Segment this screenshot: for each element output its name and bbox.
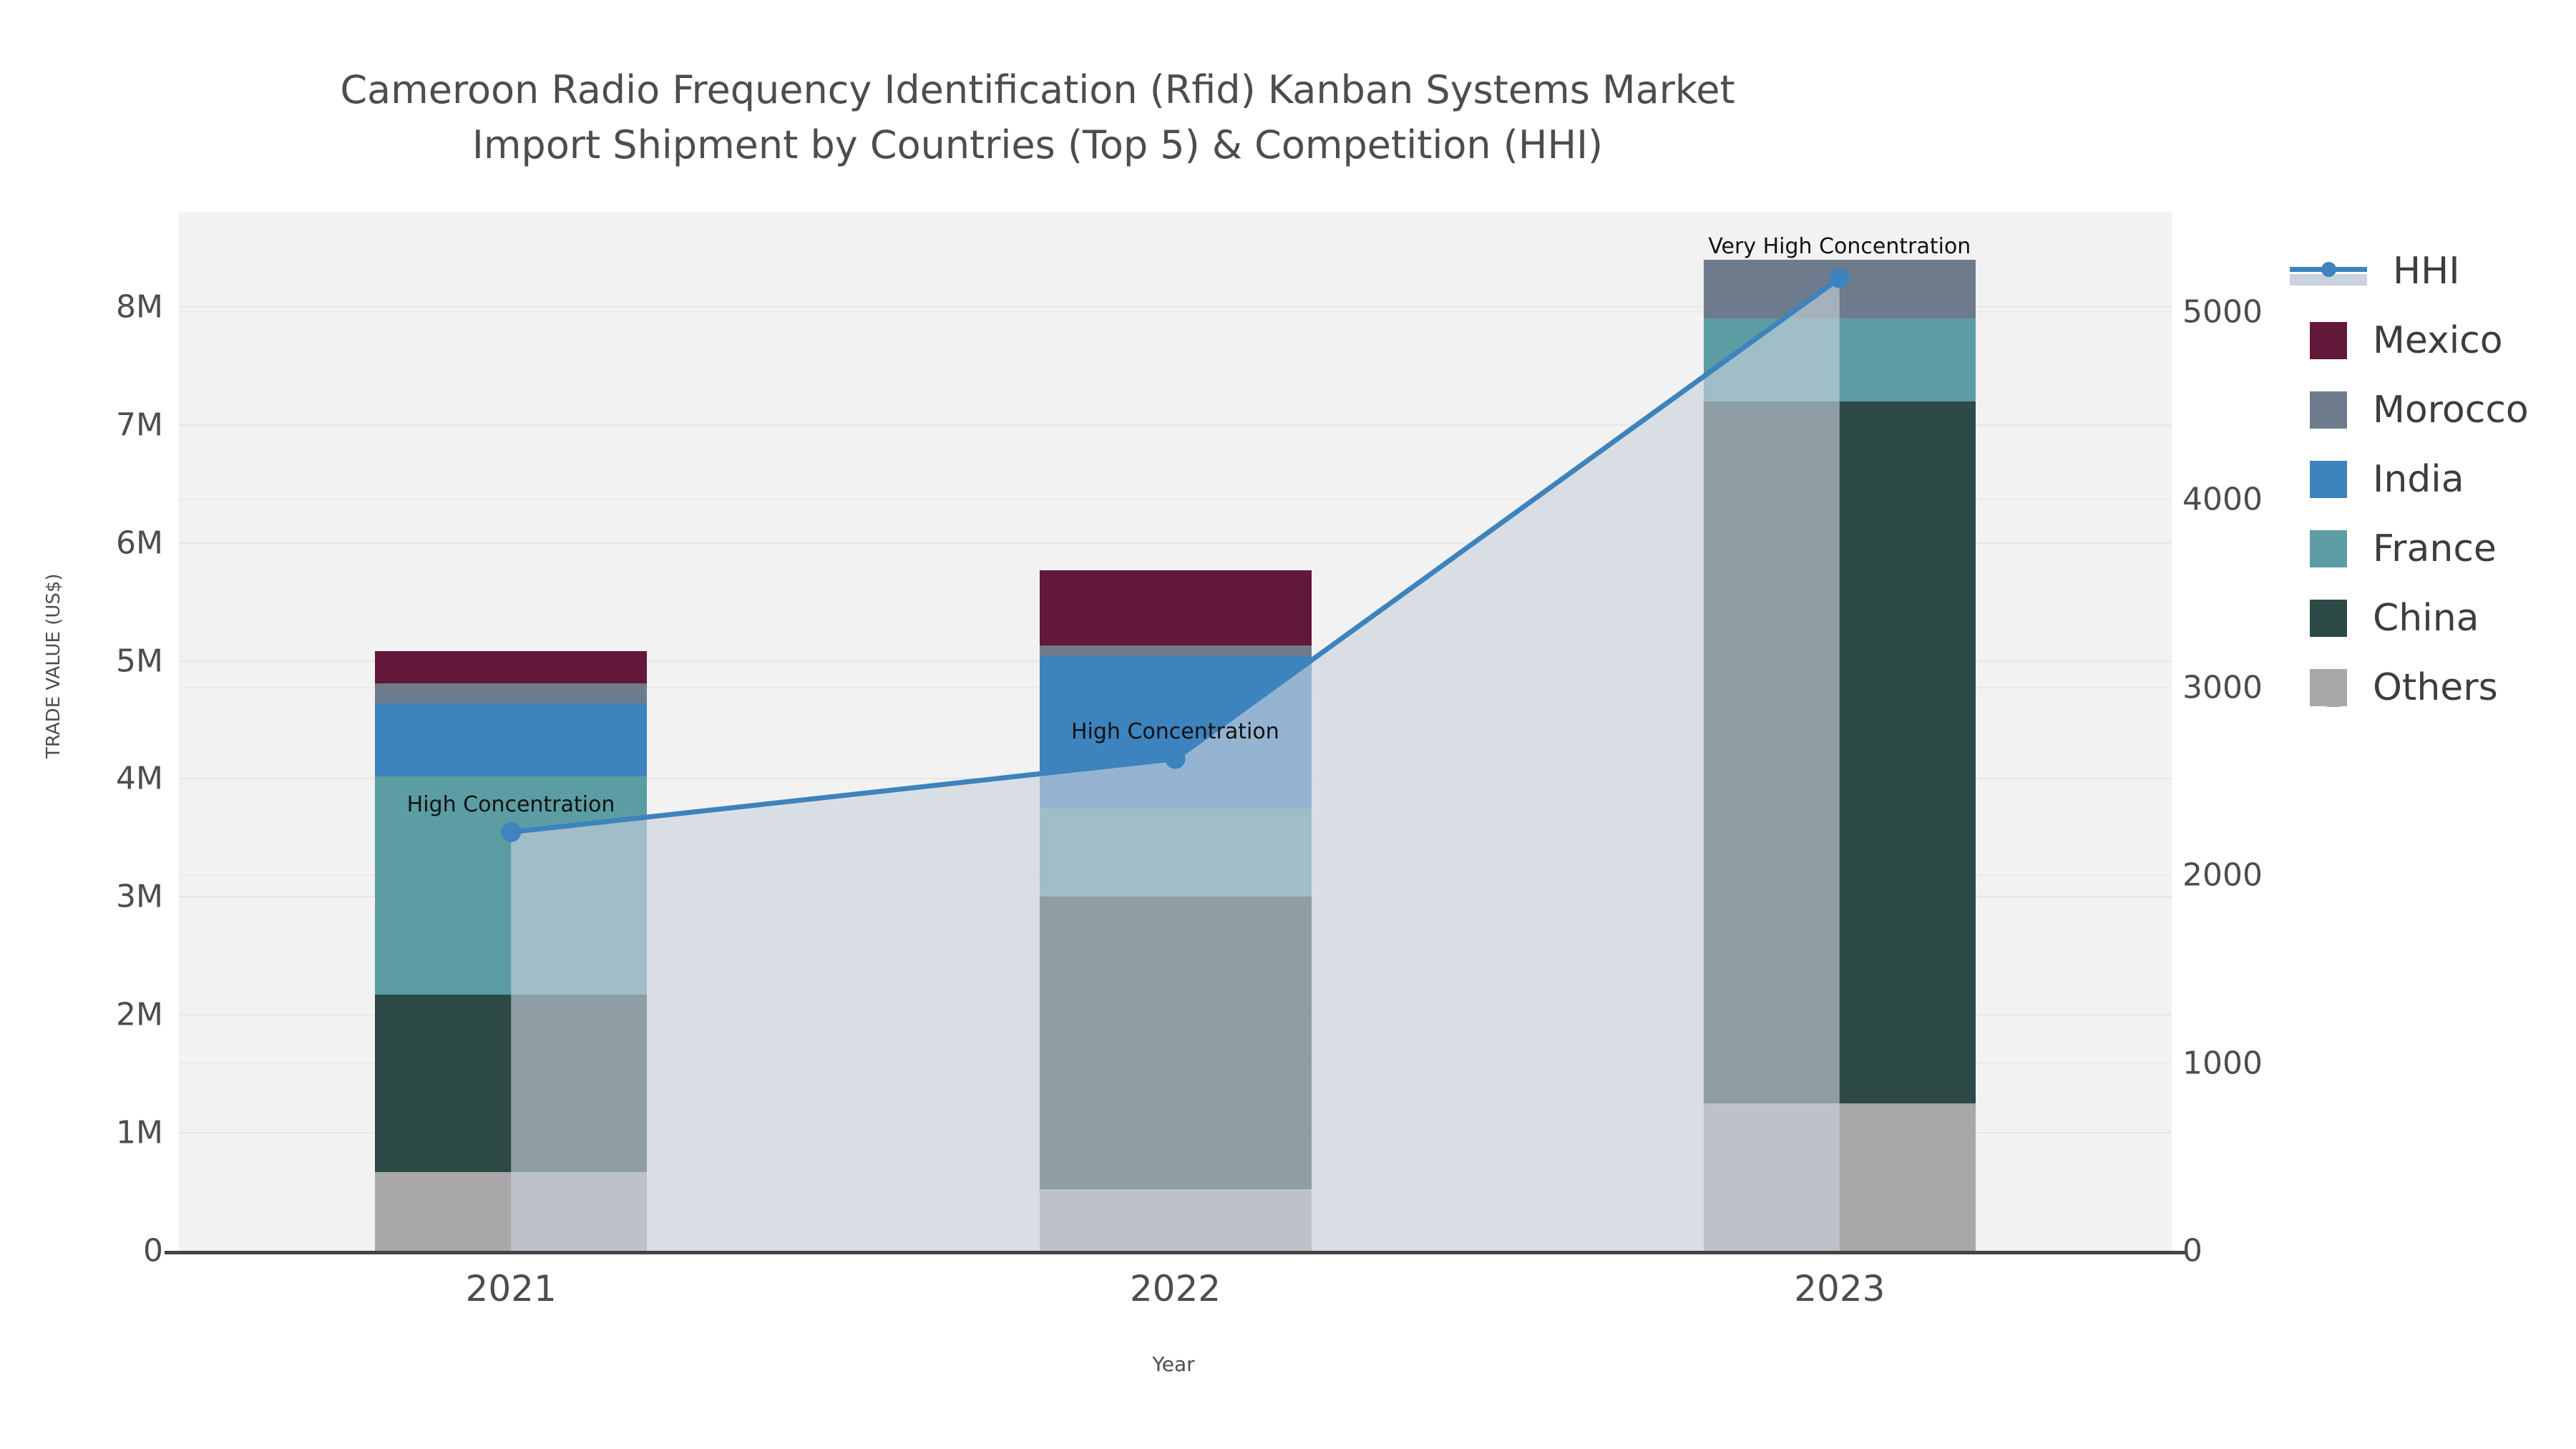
bar-segment-china[interactable] [1040, 897, 1312, 1189]
y-tick-4M: 4M [0, 761, 163, 797]
legend-label: Morocco [2373, 389, 2529, 431]
x-axis-line [165, 1251, 2186, 1254]
y2-tick-2000: 2000 [2182, 857, 2263, 894]
y2-tick-0: 0 [2182, 1233, 2202, 1269]
legend-label: China [2373, 597, 2479, 640]
bar-segment-france[interactable] [1704, 318, 1976, 401]
legend-item-hhi[interactable]: HHI [2290, 236, 2529, 306]
annotation-2023: Very High Concentration [1708, 234, 1971, 259]
bar-segment-others[interactable] [1040, 1189, 1312, 1251]
y2-tick-4000: 4000 [2182, 482, 2263, 518]
legend-item-india[interactable]: India [2290, 444, 2529, 514]
annotation-2022: High Concentration [1071, 719, 1279, 744]
y2-tick-5000: 5000 [2182, 294, 2263, 331]
legend-item-morocco[interactable]: Morocco [2290, 375, 2529, 444]
legend-swatch-india [2310, 461, 2347, 498]
y-tick-8M: 8M [0, 288, 163, 325]
legend-label: France [2373, 527, 2497, 570]
y2-tick-3000: 3000 [2182, 669, 2263, 706]
plot-area: High ConcentrationHigh ConcentrationVery… [179, 213, 2172, 1251]
chart-title-line-2: Import Shipment by Countries (Top 5) & C… [0, 118, 2075, 173]
legend-label: HHI [2393, 250, 2460, 293]
legend-swatch-morocco [2310, 391, 2347, 429]
y-tick-5M: 5M [0, 643, 163, 679]
legend-label: Mexico [2373, 319, 2503, 362]
bar-group[interactable] [1704, 213, 1976, 1251]
bar-segment-morocco[interactable] [1704, 260, 1976, 318]
chart-legend: HHIMexicoMoroccoIndiaFranceChinaOthers [2290, 236, 2529, 722]
y-tick-1M: 1M [0, 1115, 163, 1151]
bar-segment-others[interactable] [1704, 1103, 1976, 1251]
legend-item-china[interactable]: China [2290, 583, 2529, 653]
chart-title: Cameroon Radio Frequency Identification … [0, 63, 2075, 172]
legend-label: India [2373, 458, 2464, 501]
legend-line-marker [2290, 253, 2367, 290]
bar-segment-others[interactable] [375, 1172, 647, 1251]
y-axis-title: TRADE VALUE (US$) [43, 573, 64, 758]
y-tick-0: 0 [0, 1233, 163, 1269]
legend-item-mexico[interactable]: Mexico [2290, 306, 2529, 375]
legend-swatch-france [2310, 530, 2347, 567]
bar-segment-china[interactable] [1704, 401, 1976, 1103]
bar-segment-morocco[interactable] [375, 683, 647, 703]
y-tick-2M: 2M [0, 997, 163, 1033]
bar-segment-mexico[interactable] [1040, 570, 1312, 646]
bar-segment-france[interactable] [1040, 809, 1312, 897]
legend-swatch-others [2310, 669, 2347, 706]
legend-item-france[interactable]: France [2290, 514, 2529, 583]
bar-segment-india[interactable] [375, 703, 647, 776]
bar-segment-china[interactable] [375, 995, 647, 1171]
y-tick-7M: 7M [0, 406, 163, 443]
x-tick-2023[interactable]: 2023 [1697, 1268, 1983, 1309]
legend-swatch-mexico [2310, 322, 2347, 359]
x-tick-2022[interactable]: 2022 [1033, 1268, 1319, 1309]
y-axis-tick-left [169, 1251, 179, 1254]
x-tick-2021[interactable]: 2021 [368, 1268, 654, 1309]
y2-tick-1000: 1000 [2182, 1045, 2263, 1081]
legend-label: Others [2373, 666, 2498, 709]
bar-group[interactable] [375, 213, 647, 1251]
bar-segment-mexico[interactable] [375, 651, 647, 683]
legend-swatch-china [2310, 600, 2347, 637]
legend-item-others[interactable]: Others [2290, 653, 2529, 722]
annotation-2021: High Concentration [407, 792, 615, 817]
x-axis-title: Year [1030, 1352, 1317, 1376]
y-tick-3M: 3M [0, 879, 163, 915]
bar-segment-morocco[interactable] [1040, 645, 1312, 656]
y-tick-6M: 6M [0, 525, 163, 561]
chart-title-line-1: Cameroon Radio Frequency Identification … [0, 63, 2075, 118]
